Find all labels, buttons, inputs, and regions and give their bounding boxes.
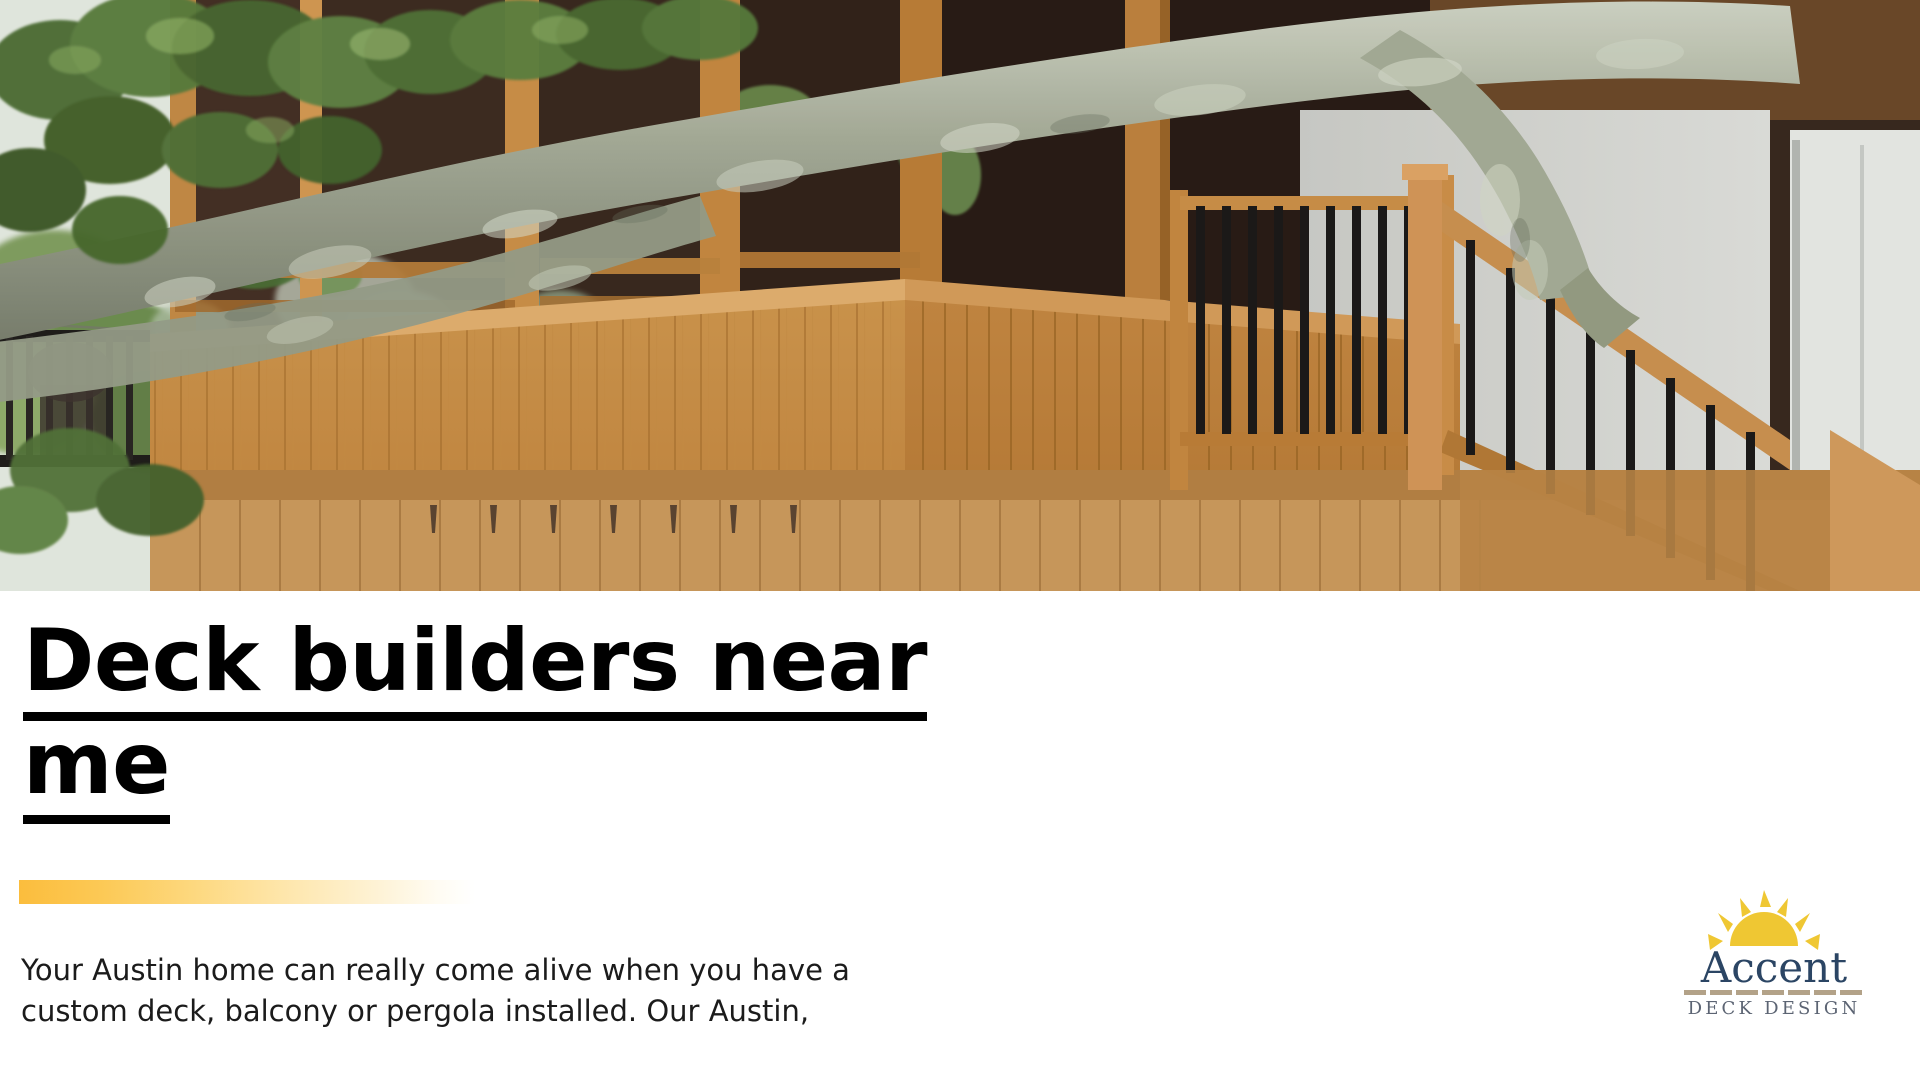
half-sun-icon — [1708, 890, 1820, 950]
deck-board-divider — [1684, 990, 1862, 995]
accent-divider-bar — [19, 880, 475, 904]
page-title-text: Deck builders near me — [23, 611, 927, 825]
intro-paragraph: Your Austin home can really come alive w… — [21, 950, 851, 1032]
page-title: Deck builders near me — [23, 610, 1033, 816]
landing-page: Deck builders near me Your Austin home c… — [0, 0, 1920, 1080]
hero-photo — [0, 0, 1920, 591]
logo-tagline: DECK DESIGN — [1688, 998, 1861, 1019]
content-area: Deck builders near me Your Austin home c… — [0, 591, 1920, 1080]
accent-deck-design-logo[interactable]: Accent DECK DESIGN — [1668, 886, 1880, 1021]
logo-wordmark: Accent — [1700, 943, 1847, 992]
